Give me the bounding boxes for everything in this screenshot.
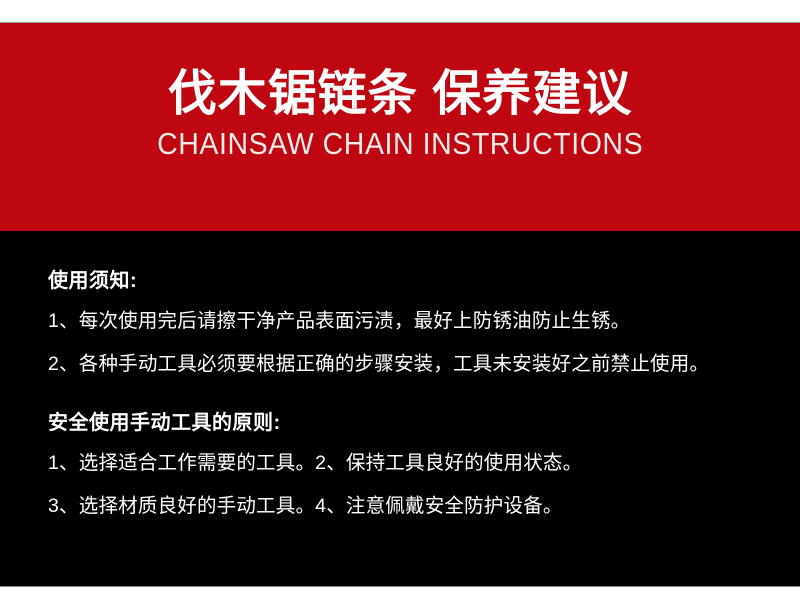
top-white-strip xyxy=(0,0,800,22)
section-safety-principles: 安全使用手动工具的原则: 1、选择适合工作需要的工具。2、保持工具良好的使用状态… xyxy=(48,411,780,519)
section-heading-usage-notes: 使用须知: xyxy=(48,269,780,293)
page-title-english: CHAINSAW CHAIN INSTRUCTIONS xyxy=(157,127,643,161)
section-usage-notes: 使用须知: 1、每次使用完后请擦干净产品表面污渍，最好上防锈油防止生锈。 2、各… xyxy=(48,269,780,377)
usage-note-line-1: 1、每次使用完后请擦干净产品表面污渍，最好上防锈油防止生锈。 xyxy=(48,310,780,333)
usage-note-line-2: 2、各种手动工具必须要根据正确的步骤安装，工具未安装好之前禁止使用。 xyxy=(48,353,780,376)
instructions-body: 使用须知: 1、每次使用完后请擦干净产品表面污渍，最好上防锈油防止生锈。 2、各… xyxy=(0,231,800,586)
hero-banner: 伐木锯链条 保养建议 CHAINSAW CHAIN INSTRUCTIONS xyxy=(0,22,800,231)
section-heading-safety-principles: 安全使用手动工具的原则: xyxy=(48,411,780,435)
safety-principle-line-2: 3、选择材质良好的手动工具。4、注意佩戴安全防护设备。 xyxy=(48,495,780,518)
bottom-white-strip xyxy=(0,586,800,604)
product-instruction-page: 伐木锯链条 保养建议 CHAINSAW CHAIN INSTRUCTIONS 使… xyxy=(0,0,800,604)
page-title-chinese: 伐木锯链条 保养建议 xyxy=(168,66,633,122)
safety-principle-line-1: 1、选择适合工作需要的工具。2、保持工具良好的使用状态。 xyxy=(48,452,780,475)
